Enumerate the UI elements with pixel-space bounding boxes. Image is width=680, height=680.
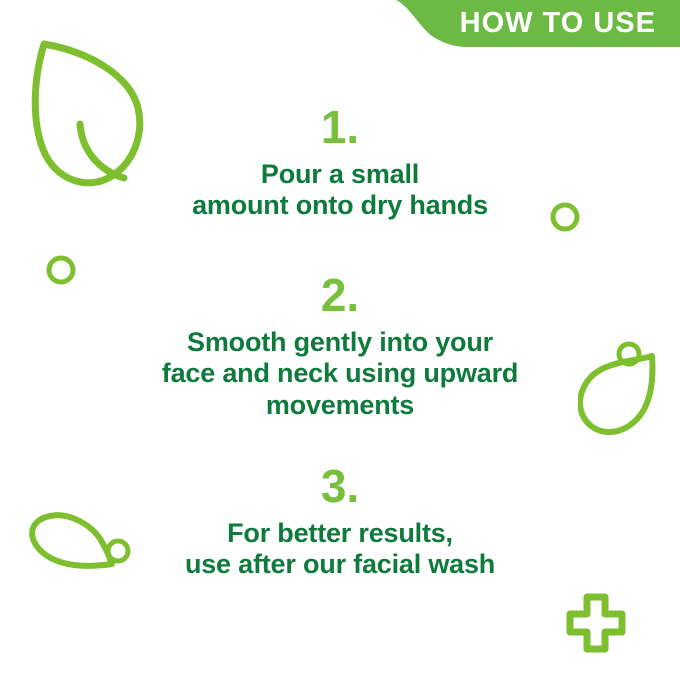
step-number: 1. — [0, 104, 680, 150]
step-number: 3. — [0, 463, 680, 509]
step-text: For better results, use after our facial… — [0, 518, 680, 581]
step-text: Pour a small amount onto dry hands — [0, 159, 680, 222]
steps-list: 1. Pour a small amount onto dry hands 2.… — [0, 0, 680, 680]
step-text: Smooth gently into your face and neck us… — [0, 327, 680, 421]
step-item: 3. For better results, use after our fac… — [0, 463, 680, 581]
how-to-use-poster: HOW TO USE — [0, 0, 680, 680]
step-item: 1. Pour a small amount onto dry hands — [0, 104, 680, 222]
step-item: 2. Smooth gently into your face and neck… — [0, 272, 680, 421]
step-number: 2. — [0, 272, 680, 318]
